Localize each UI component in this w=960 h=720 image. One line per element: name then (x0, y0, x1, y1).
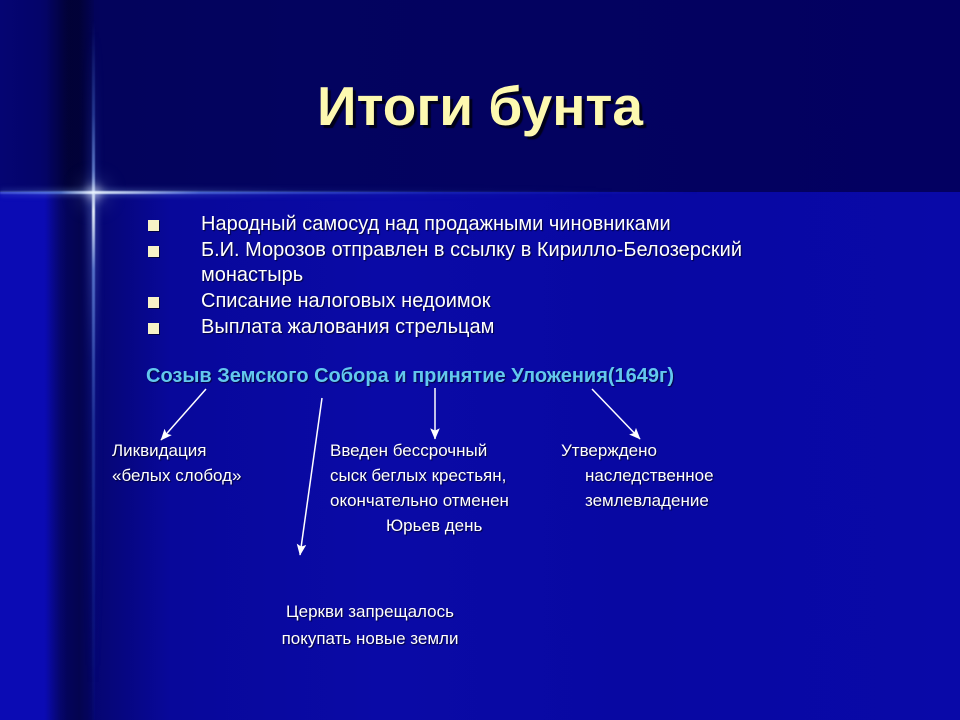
outcome-line: Утверждено (561, 438, 714, 463)
list-item: Б.И. Морозов отправлен в ссылку в Кирилл… (148, 238, 818, 288)
outcome-line: Ликвидация (112, 438, 242, 463)
outcome-line: Введен бессрочный (330, 438, 509, 463)
presentation-slide: Итоги бунта Народный самосуд над продажн… (0, 0, 960, 720)
square-bullet-icon (148, 297, 159, 308)
outcome-line: окончательно отменен (330, 488, 509, 513)
list-item-label: Списание налоговых недоимок (201, 289, 818, 314)
outcome-line: Юрьев день (330, 513, 509, 538)
outcome-line: сыск беглых крестьян, (330, 463, 509, 488)
square-bullet-icon (148, 246, 159, 257)
bullet-list: Народный самосуд над продажными чиновник… (148, 212, 818, 341)
list-item-label: Б.И. Морозов отправлен в ссылку в Кирилл… (201, 238, 818, 288)
list-item-label: Народный самосуд над продажными чиновник… (201, 212, 818, 237)
outcome-line: покупать новые земли (190, 625, 550, 652)
list-item-label: Выплата жалования стрельцам (201, 315, 818, 340)
outcome-line: землевладение (561, 488, 714, 513)
outcome-line: «белых слобод» (112, 463, 242, 488)
section-subheading: Созыв Земского Собора и принятие Уложени… (146, 365, 674, 388)
cross-glow-center-star-icon (93, 192, 95, 194)
outcome-column-middle: Введен бессрочный сыск беглых крестьян, … (330, 438, 509, 538)
list-item: Народный самосуд над продажными чиновник… (148, 212, 818, 237)
cross-glow-horizontal-line (0, 191, 700, 194)
slide-title: Итоги бунта (0, 74, 960, 138)
outcome-column-left: Ликвидация «белых слобод» (112, 438, 242, 488)
square-bullet-icon (148, 323, 159, 334)
outcome-bottom-block: Церкви запрещалось покупать новые земли (190, 598, 550, 652)
square-bullet-icon (148, 220, 159, 231)
outcome-column-right: Утверждено наследственное землевладение (561, 438, 714, 513)
outcome-line: наследственное (561, 463, 714, 488)
outcome-line: Церкви запрещалось (190, 598, 550, 625)
list-item: Списание налоговых недоимок (148, 289, 818, 314)
list-item: Выплата жалования стрельцам (148, 315, 818, 340)
